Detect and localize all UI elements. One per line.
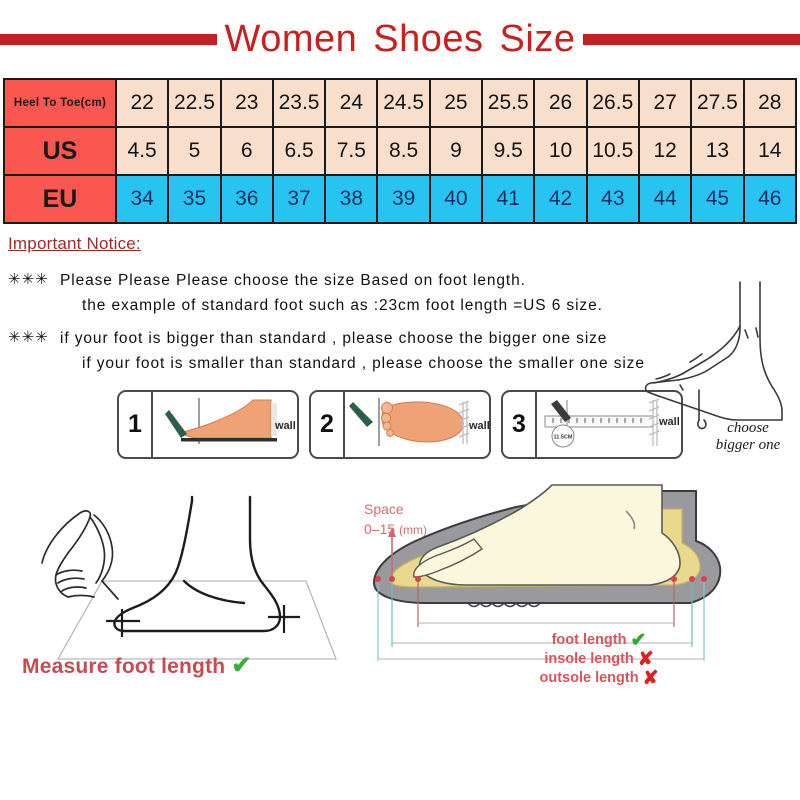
table-row-eu: EU 34 35 36 37 38 39 40 41 42 43 44 45 4… bbox=[4, 175, 796, 223]
asterisk-icon: ✳✳✳ bbox=[8, 326, 60, 346]
cell-cm: 22.5 bbox=[168, 79, 220, 127]
cell-cm: 25 bbox=[430, 79, 482, 127]
foot-side-view-icon: wall bbox=[153, 392, 297, 453]
wall-label-text: wall bbox=[658, 416, 680, 428]
page-title-word-women: Women bbox=[225, 18, 358, 60]
table-row-us: US 4.5 5 6 6.5 7.5 8.5 9 9.5 10 10.5 12 … bbox=[4, 127, 796, 175]
cross-icon: ✘ bbox=[638, 650, 654, 669]
cell-cm: 23.5 bbox=[273, 79, 325, 127]
bottom-illustrations-row: Measure foot length ✔ Space 0–15 (mm) bbox=[0, 471, 800, 696]
step-number: 2 bbox=[311, 392, 345, 457]
cell-us: 10 bbox=[534, 127, 586, 175]
cell-eu: 38 bbox=[325, 175, 377, 223]
cell-us: 10.5 bbox=[587, 127, 639, 175]
step-box-2: 2 wall bbox=[309, 390, 491, 459]
cell-cm: 24.5 bbox=[377, 79, 429, 127]
cell-us: 6.5 bbox=[273, 127, 325, 175]
asterisk-icon: ✳✳✳ bbox=[8, 268, 60, 288]
hand-measuring-foot-icon bbox=[6, 471, 356, 671]
cell-eu: 39 bbox=[377, 175, 429, 223]
ruler-bubble-text: 11.5CM bbox=[554, 435, 573, 441]
step-1-illustration: wall bbox=[153, 392, 297, 457]
row-label-heel-to-toe: Heel To Toe(cm) bbox=[4, 79, 116, 127]
foot-top-view-icon: wall bbox=[345, 392, 489, 453]
row-label-us: US bbox=[4, 127, 116, 175]
cell-eu: 36 bbox=[221, 175, 273, 223]
cell-us: 7.5 bbox=[325, 127, 377, 175]
cell-us: 14 bbox=[744, 127, 796, 175]
wall-label-text: wall bbox=[274, 420, 296, 432]
title-bar-right bbox=[583, 34, 800, 45]
cell-cm: 26.5 bbox=[587, 79, 639, 127]
step-3-illustration: 11.5CM wall bbox=[537, 392, 681, 457]
legend-row-outsole-length: outsole length ✘ bbox=[464, 669, 734, 688]
cell-cm: 23 bbox=[221, 79, 273, 127]
cell-eu: 41 bbox=[482, 175, 534, 223]
measure-foot-panel: Measure foot length ✔ bbox=[6, 471, 356, 696]
cell-us: 4.5 bbox=[116, 127, 168, 175]
row-label-eu: EU bbox=[4, 175, 116, 223]
ruler-measure-icon: 11.5CM wall bbox=[537, 392, 681, 453]
cell-cm: 26 bbox=[534, 79, 586, 127]
cell-cm: 27.5 bbox=[691, 79, 743, 127]
cell-us: 5 bbox=[168, 127, 220, 175]
step-number: 3 bbox=[503, 392, 537, 457]
cell-eu: 44 bbox=[639, 175, 691, 223]
choose-bigger-one-caption: choose bigger one bbox=[700, 420, 796, 454]
legend-label: insole length bbox=[544, 650, 633, 669]
check-icon: ✔ bbox=[231, 652, 251, 679]
caption-line: bigger one bbox=[716, 437, 781, 453]
legend-row-insole-length: insole length ✘ bbox=[464, 650, 734, 669]
cell-eu: 46 bbox=[744, 175, 796, 223]
measure-caption-text: Measure foot length bbox=[22, 655, 225, 678]
step-number: 1 bbox=[119, 392, 153, 457]
wall-label-text: wall bbox=[468, 420, 489, 432]
cell-us: 12 bbox=[639, 127, 691, 175]
important-notice-heading: Important Notice: bbox=[8, 234, 141, 254]
measure-foot-caption: Measure foot length ✔ bbox=[22, 651, 252, 680]
measure-steps-row: 1 wall 2 bbox=[0, 390, 800, 459]
cell-us: 13 bbox=[691, 127, 743, 175]
title-bar-left bbox=[0, 34, 217, 45]
table-row-heel-to-toe: Heel To Toe(cm) 22 22.5 23 23.5 24 24.5 … bbox=[4, 79, 796, 127]
cell-eu: 45 bbox=[691, 175, 743, 223]
cell-cm: 28 bbox=[744, 79, 796, 127]
cell-eu: 40 bbox=[430, 175, 482, 223]
cell-eu: 43 bbox=[587, 175, 639, 223]
cell-eu: 35 bbox=[168, 175, 220, 223]
cell-eu: 42 bbox=[534, 175, 586, 223]
cell-us: 8.5 bbox=[377, 127, 429, 175]
page-title-banner: WomenShoesSize bbox=[0, 0, 800, 78]
legend-label: foot length bbox=[552, 631, 627, 650]
page-title-word-size: Size bbox=[500, 18, 576, 60]
page-title: WomenShoesSize bbox=[221, 18, 580, 61]
step-2-illustration: wall bbox=[345, 392, 489, 457]
step-box-3: 3 11.5CM bbox=[501, 390, 683, 459]
cross-icon: ✘ bbox=[643, 669, 659, 688]
cell-cm: 22 bbox=[116, 79, 168, 127]
cell-cm: 25.5 bbox=[482, 79, 534, 127]
page-title-word-shoes: Shoes bbox=[373, 18, 483, 60]
step-box-1: 1 wall bbox=[117, 390, 299, 459]
cell-cm: 24 bbox=[325, 79, 377, 127]
legend-row-foot-length: foot length ✔ bbox=[464, 631, 734, 650]
cell-us: 9 bbox=[430, 127, 482, 175]
size-chart-table: Heel To Toe(cm) 22 22.5 23 23.5 24 24.5 … bbox=[3, 78, 797, 224]
legend-label: outsole length bbox=[539, 669, 638, 688]
shoe-legend: foot length ✔ insole length ✘ outsole le… bbox=[464, 631, 734, 688]
caption-line: choose bbox=[727, 420, 769, 436]
cell-eu: 37 bbox=[273, 175, 325, 223]
cell-eu: 34 bbox=[116, 175, 168, 223]
cell-us: 9.5 bbox=[482, 127, 534, 175]
cell-cm: 27 bbox=[639, 79, 691, 127]
check-icon: ✔ bbox=[630, 631, 646, 650]
shoe-cross-section-panel: Space 0–15 (mm) bbox=[356, 471, 794, 696]
cell-us: 6 bbox=[221, 127, 273, 175]
